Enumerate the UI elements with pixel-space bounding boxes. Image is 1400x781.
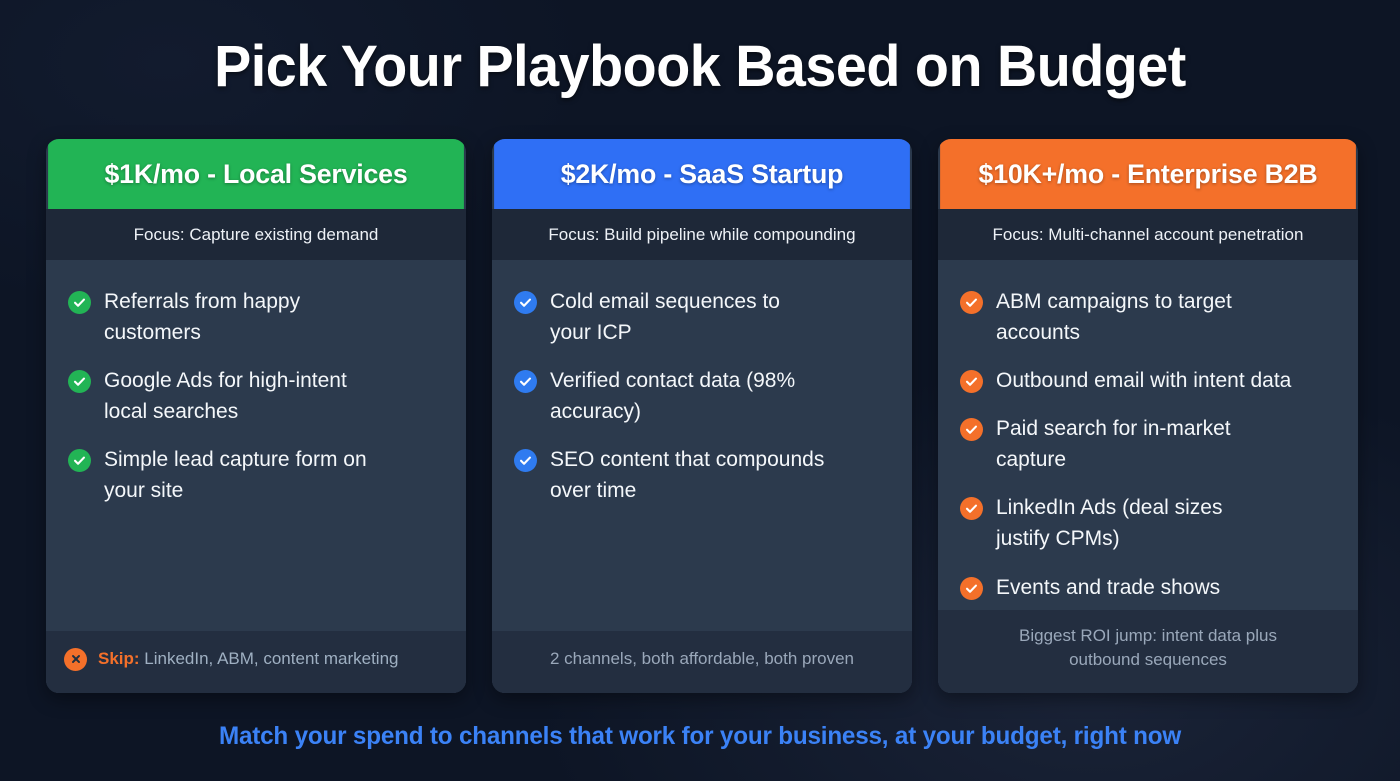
feature-list-saas-startup: Cold email sequences to your ICP Verifie… bbox=[514, 286, 896, 506]
check-circle-icon bbox=[514, 370, 537, 393]
check-circle-icon bbox=[960, 577, 983, 600]
footer-note-text: 2 channels, both affordable, both proven bbox=[550, 647, 854, 672]
check-circle-icon bbox=[960, 497, 983, 520]
list-item: SEO content that compounds over time bbox=[514, 444, 896, 506]
playbook-card-enterprise-b2b[interactable]: $10K+/mo - Enterprise B2B Focus: Multi-c… bbox=[938, 139, 1358, 693]
card-header-saas-startup: $2K/mo - SaaS Startup bbox=[494, 139, 910, 209]
feature-text: Events and trade shows bbox=[996, 572, 1220, 603]
check-circle-icon bbox=[960, 291, 983, 314]
card-body-enterprise-b2b: ABM campaigns to target accounts Outboun… bbox=[938, 260, 1358, 693]
card-footer-saas-startup: 2 channels, both affordable, both proven bbox=[492, 631, 912, 693]
list-item: Verified contact data (98% accuracy) bbox=[514, 365, 896, 427]
check-circle-icon bbox=[514, 291, 537, 314]
pricing-cards-row: $1K/mo - Local Services Focus: Capture e… bbox=[46, 139, 1358, 693]
feature-text: ABM campaigns to target accounts bbox=[996, 286, 1232, 348]
bottom-tagline: Match your spend to channels that work f… bbox=[21, 722, 1379, 751]
check-circle-icon bbox=[514, 449, 537, 472]
feature-text: Simple lead capture form on your site bbox=[104, 444, 367, 506]
page-title: Pick Your Playbook Based on Budget bbox=[28, 0, 1372, 96]
footer-skip-detail: LinkedIn, ABM, content marketing bbox=[140, 649, 399, 668]
list-item: ABM campaigns to target accounts bbox=[960, 286, 1342, 348]
card-focus-saas-startup: Focus: Build pipeline while compounding bbox=[492, 209, 912, 260]
feature-list-local-services: Referrals from happy customers Google Ad… bbox=[68, 286, 450, 506]
feature-text: Paid search for in-market capture bbox=[996, 413, 1231, 475]
card-footer-local-services: Skip: LinkedIn, ABM, content marketing bbox=[46, 631, 466, 693]
list-item: Events and trade shows bbox=[960, 572, 1342, 603]
check-circle-icon bbox=[68, 291, 91, 314]
check-circle-icon bbox=[960, 370, 983, 393]
playbook-card-local-services[interactable]: $1K/mo - Local Services Focus: Capture e… bbox=[46, 139, 466, 693]
feature-text: Cold email sequences to your ICP bbox=[550, 286, 780, 348]
list-item: LinkedIn Ads (deal sizes justify CPMs) bbox=[960, 492, 1342, 554]
list-item: Google Ads for high-intent local searche… bbox=[68, 365, 450, 427]
feature-text: Verified contact data (98% accuracy) bbox=[550, 365, 795, 427]
card-focus-enterprise-b2b: Focus: Multi-channel account penetration bbox=[938, 209, 1358, 260]
check-circle-icon bbox=[960, 418, 983, 441]
card-focus-local-services: Focus: Capture existing demand bbox=[46, 209, 466, 260]
footer-skip-text: Skip: LinkedIn, ABM, content marketing bbox=[98, 647, 398, 672]
footer-skip-label: Skip: bbox=[98, 649, 140, 668]
card-header-enterprise-b2b: $10K+/mo - Enterprise B2B bbox=[940, 139, 1356, 209]
list-item: Simple lead capture form on your site bbox=[68, 444, 450, 506]
feature-text: Google Ads for high-intent local searche… bbox=[104, 365, 347, 427]
footer-note-text: Biggest ROI jump: intent data plus outbo… bbox=[1019, 624, 1277, 673]
x-circle-icon bbox=[64, 648, 87, 671]
list-item: Referrals from happy customers bbox=[68, 286, 450, 348]
feature-list-enterprise-b2b: ABM campaigns to target accounts Outboun… bbox=[960, 286, 1342, 603]
card-body-local-services: Referrals from happy customers Google Ad… bbox=[46, 260, 466, 693]
check-circle-icon bbox=[68, 449, 91, 472]
playbook-card-saas-startup[interactable]: $2K/mo - SaaS Startup Focus: Build pipel… bbox=[492, 139, 912, 693]
list-item: Paid search for in-market capture bbox=[960, 413, 1342, 475]
check-circle-icon bbox=[68, 370, 91, 393]
list-item: Cold email sequences to your ICP bbox=[514, 286, 896, 348]
card-header-local-services: $1K/mo - Local Services bbox=[48, 139, 464, 209]
card-body-saas-startup: Cold email sequences to your ICP Verifie… bbox=[492, 260, 912, 693]
feature-text: LinkedIn Ads (deal sizes justify CPMs) bbox=[996, 492, 1222, 554]
feature-text: SEO content that compounds over time bbox=[550, 444, 824, 506]
feature-text: Outbound email with intent data bbox=[996, 365, 1291, 396]
feature-text: Referrals from happy customers bbox=[104, 286, 300, 348]
card-footer-enterprise-b2b: Biggest ROI jump: intent data plus outbo… bbox=[938, 610, 1358, 693]
list-item: Outbound email with intent data bbox=[960, 365, 1342, 396]
